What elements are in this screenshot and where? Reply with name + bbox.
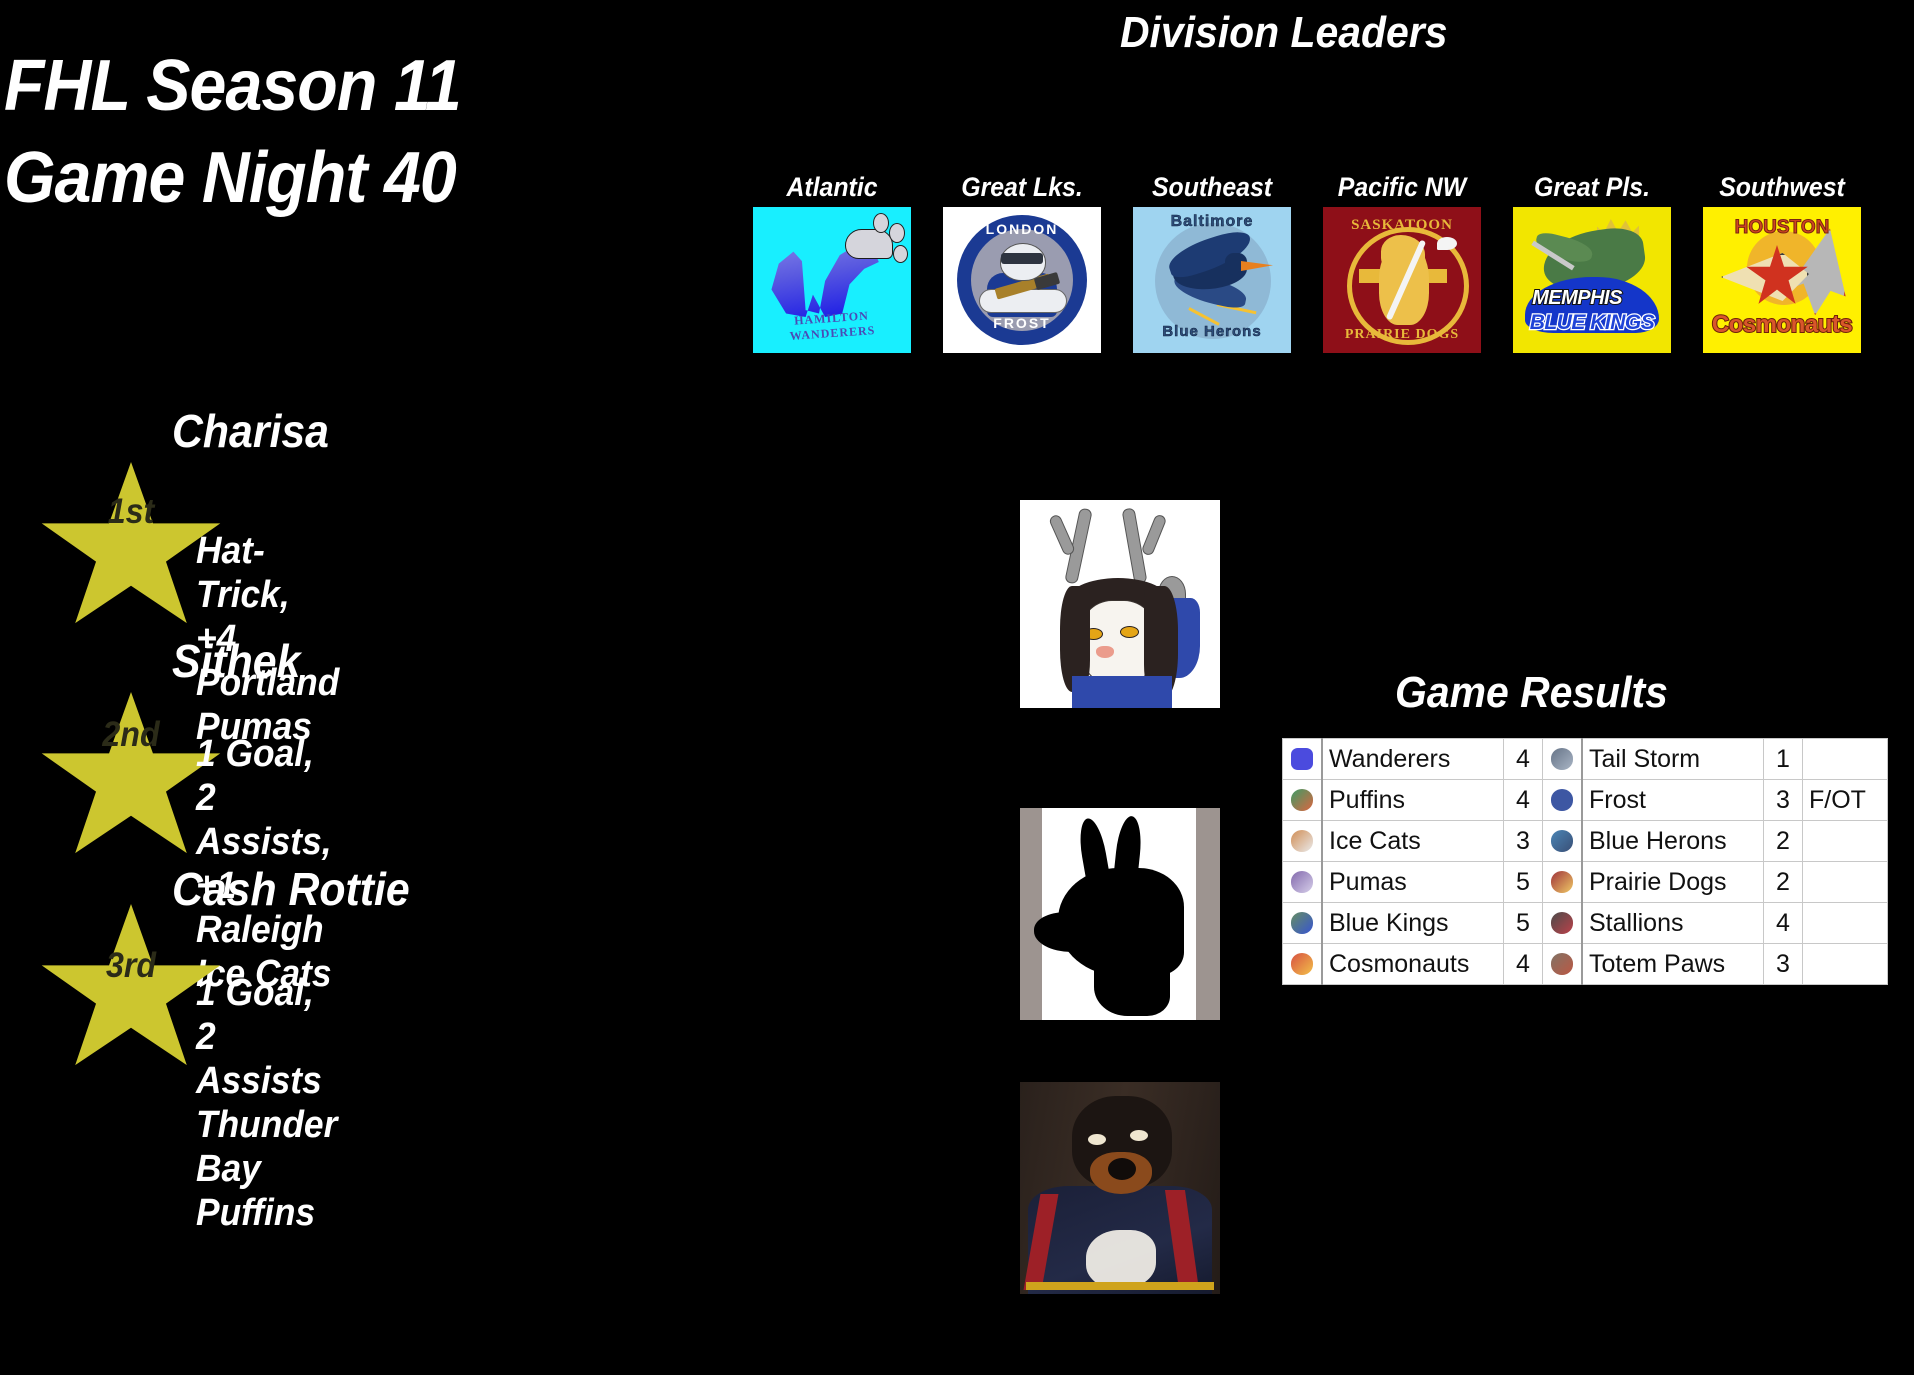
cash-rottie-portrait[interactable] bbox=[1020, 1082, 1220, 1294]
result-note bbox=[1803, 739, 1888, 780]
prairie-dogs-wordmark: PRAIRIE DOGS bbox=[1331, 327, 1473, 343]
division-label-southeast: Southeast bbox=[1138, 172, 1285, 203]
charisa-jersey bbox=[1072, 676, 1172, 708]
memphis-wordmark: MEMPHIS bbox=[1525, 287, 1629, 310]
table-row[interactable]: Cosmonauts 4 Totem Paws 3 bbox=[1283, 944, 1888, 985]
home-team-name: Cosmonauts bbox=[1322, 944, 1504, 985]
game-results-heading: Game Results bbox=[1395, 668, 1668, 718]
away-team-score: 4 bbox=[1764, 903, 1803, 944]
antler-left-tine bbox=[1048, 513, 1076, 556]
division-cell-southwest[interactable]: Southwest HOUSTON Cosmonauts bbox=[1702, 172, 1862, 353]
table-row[interactable]: Pumas 5 Prairie Dogs 2 bbox=[1283, 862, 1888, 903]
jersey-crest bbox=[1086, 1230, 1156, 1288]
away-team-score: 1 bbox=[1764, 739, 1803, 780]
division-label-southwest: Southwest bbox=[1708, 172, 1855, 203]
result-note bbox=[1803, 903, 1888, 944]
division-leaders-row: Atlantic HAMILTON WANDERERS Great Lks. L… bbox=[752, 172, 1902, 362]
home-team-name: Pumas bbox=[1322, 862, 1504, 903]
home-team-score: 4 bbox=[1504, 739, 1543, 780]
away-team-name: Stallions bbox=[1582, 903, 1764, 944]
away-team-name: Blue Herons bbox=[1582, 821, 1764, 862]
home-team-score: 5 bbox=[1504, 862, 1543, 903]
table-row[interactable]: Puffins 4 Frost 3 F/OT bbox=[1283, 780, 1888, 821]
page-title: FHL Season 11 Game Night 40 bbox=[4, 40, 703, 224]
star-rank-3: 3rd bbox=[45, 946, 216, 986]
star-rank-2: 2nd bbox=[45, 715, 216, 755]
hamilton-wanderers-wordmark: HAMILTON WANDERERS bbox=[760, 306, 904, 346]
division-label-pacific-nw: Pacific NW bbox=[1328, 172, 1475, 203]
london-frost-logo[interactable]: LONDON FROST bbox=[943, 207, 1101, 353]
wanderer-cap bbox=[845, 229, 893, 259]
rottweiler-nose bbox=[1108, 1158, 1136, 1180]
rottweiler-eye-right bbox=[1130, 1130, 1148, 1141]
ice-cats-icon bbox=[1283, 821, 1323, 862]
away-team-score: 2 bbox=[1764, 821, 1803, 862]
totem-paws-icon bbox=[1543, 944, 1583, 985]
home-team-score: 5 bbox=[1504, 903, 1543, 944]
sithek-muzzle bbox=[1034, 912, 1106, 952]
blue-herons-icon bbox=[1543, 821, 1583, 862]
saskatoon-prairie-dogs-logo[interactable]: SASKATOON PRAIRIE DOGS bbox=[1323, 207, 1481, 353]
away-team-name: Frost bbox=[1582, 780, 1764, 821]
division-cell-great-plains[interactable]: Great Pls. MEMPHIS BLUE KINGS bbox=[1512, 172, 1672, 353]
home-team-name: Ice Cats bbox=[1322, 821, 1504, 862]
wanderers-icon bbox=[1283, 739, 1323, 780]
game-results-table: Wanderers 4 Tail Storm 1 Puffins 4 Frost… bbox=[1282, 738, 1888, 985]
star-stats-3: 1 Goal, 2 Assists Thunder Bay Puffins bbox=[196, 971, 337, 1235]
blue-herons-wordmark: Blue Herons bbox=[1141, 323, 1283, 340]
home-team-name: Blue Kings bbox=[1322, 903, 1504, 944]
home-team-name: Puffins bbox=[1322, 780, 1504, 821]
division-cell-southeast[interactable]: Southeast Baltimore Blue Herons bbox=[1132, 172, 1292, 353]
sithek-portrait[interactable] bbox=[1020, 808, 1220, 1020]
paw-pad-3 bbox=[893, 245, 908, 263]
eye-right bbox=[1120, 626, 1139, 638]
houston-cosmonauts-logo[interactable]: HOUSTON Cosmonauts bbox=[1703, 207, 1861, 353]
away-team-name: Prairie Dogs bbox=[1582, 862, 1764, 903]
baltimore-wordmark: Baltimore bbox=[1141, 213, 1283, 231]
memphis-blue-kings-logo[interactable]: MEMPHIS BLUE KINGS bbox=[1513, 207, 1671, 353]
star-name-2: Sithek bbox=[172, 634, 300, 688]
home-team-name: Wanderers bbox=[1322, 739, 1504, 780]
away-team-name: Tail Storm bbox=[1582, 739, 1764, 780]
result-note bbox=[1803, 944, 1888, 985]
table-row[interactable]: Ice Cats 3 Blue Herons 2 bbox=[1283, 821, 1888, 862]
star-name-3: Cash Rottie bbox=[172, 862, 410, 916]
away-team-score: 3 bbox=[1764, 944, 1803, 985]
division-label-great-lakes: Great Lks. bbox=[948, 172, 1095, 203]
home-team-score: 4 bbox=[1504, 780, 1543, 821]
blue-kings-wordmark: BLUE KINGS bbox=[1525, 311, 1659, 335]
division-cell-atlantic[interactable]: Atlantic HAMILTON WANDERERS bbox=[752, 172, 912, 353]
star-rank-1: 1st bbox=[45, 492, 216, 532]
cosmonauts-wordmark: Cosmonauts bbox=[1707, 311, 1857, 339]
home-team-score: 3 bbox=[1504, 821, 1543, 862]
paw-pad-2 bbox=[889, 223, 905, 243]
table-row[interactable]: Blue Kings 5 Stallions 4 bbox=[1283, 903, 1888, 944]
cosmonauts-icon bbox=[1283, 944, 1323, 985]
saskatoon-wordmark: SASKATOON bbox=[1331, 217, 1473, 234]
division-cell-pacific-nw[interactable]: Pacific NW SASKATOON PRAIRIE DOGS bbox=[1322, 172, 1482, 353]
charisa-portrait[interactable] bbox=[1020, 500, 1220, 708]
division-label-atlantic: Atlantic bbox=[758, 172, 905, 203]
frost-wordmark: FROST bbox=[951, 315, 1093, 331]
prairie-dogs-icon bbox=[1543, 862, 1583, 903]
paw-pad-1 bbox=[873, 213, 889, 233]
sithek-neck bbox=[1094, 950, 1170, 1016]
table-row[interactable]: Wanderers 4 Tail Storm 1 bbox=[1283, 739, 1888, 780]
london-wordmark: LONDON bbox=[951, 221, 1093, 237]
stallions-icon bbox=[1543, 903, 1583, 944]
frost-bear-arms bbox=[979, 289, 1067, 313]
away-team-score: 3 bbox=[1764, 780, 1803, 821]
frost-sunglasses bbox=[1001, 253, 1043, 264]
blue-kings-icon bbox=[1283, 903, 1323, 944]
frost-icon bbox=[1543, 780, 1583, 821]
home-team-score: 4 bbox=[1504, 944, 1543, 985]
rottweiler-eye-left bbox=[1088, 1134, 1106, 1145]
away-team-name: Totem Paws bbox=[1582, 944, 1764, 985]
pumas-icon bbox=[1283, 862, 1323, 903]
away-team-score: 2 bbox=[1764, 862, 1803, 903]
bottom-gold-bar bbox=[1026, 1282, 1214, 1290]
division-label-great-plains: Great Pls. bbox=[1518, 172, 1665, 203]
tail-storm-icon bbox=[1543, 739, 1583, 780]
division-cell-great-lakes[interactable]: Great Lks. LONDON FROST bbox=[942, 172, 1102, 353]
hamilton-wanderers-logo[interactable]: HAMILTON WANDERERS bbox=[753, 207, 911, 353]
prairie-dog-stick-blade bbox=[1437, 237, 1457, 250]
star-name-1: Charisa bbox=[172, 404, 329, 458]
nose bbox=[1096, 646, 1114, 658]
baltimore-blue-herons-logo[interactable]: Baltimore Blue Herons bbox=[1133, 207, 1291, 353]
houston-wordmark: HOUSTON bbox=[1711, 217, 1853, 239]
puffins-icon bbox=[1283, 780, 1323, 821]
result-note bbox=[1803, 862, 1888, 903]
antler-right-tine bbox=[1141, 513, 1168, 556]
result-note bbox=[1803, 821, 1888, 862]
result-note: F/OT bbox=[1803, 780, 1888, 821]
division-leaders-heading: Division Leaders bbox=[1120, 8, 1447, 58]
